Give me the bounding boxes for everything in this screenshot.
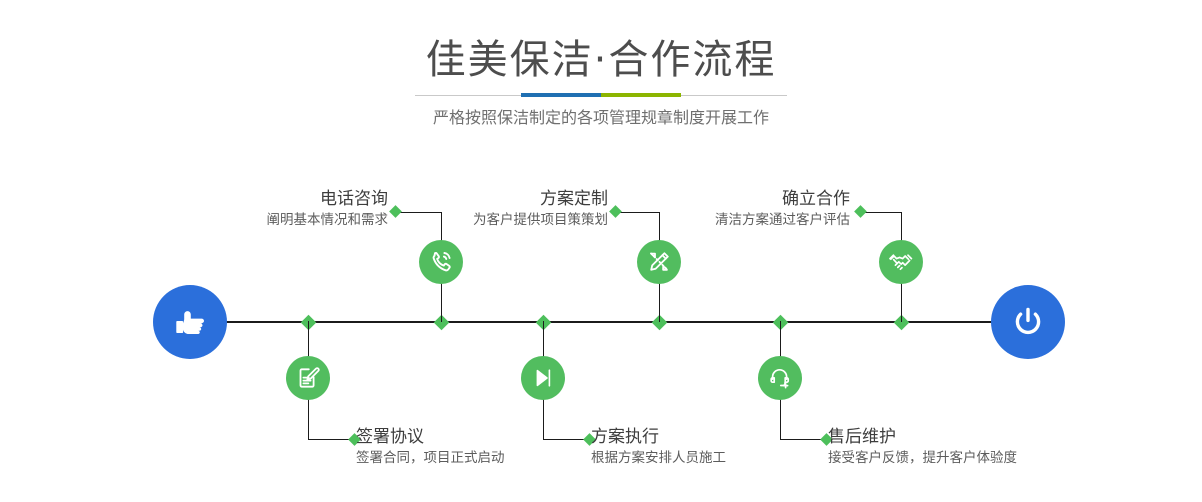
step-desc-6: 接受客户反馈，提升客户体验度 [828, 448, 1148, 468]
step-title-6: 售后维护 [828, 426, 1148, 448]
step-icon-2[interactable] [286, 356, 330, 400]
page-title: 佳美保洁·合作流程 [0, 36, 1202, 84]
connector-arm-5 [861, 212, 902, 213]
step-label-5: 确立合作 清洁方案通过客户评估 [612, 188, 850, 230]
handshake-icon [888, 249, 914, 275]
flow-diagram-canvas: 佳美保洁·合作流程 严格按照保洁制定的各项管理规章制度开展工作 [0, 0, 1202, 502]
step-label-3: 方案定制 为客户提供项目策策划 [370, 188, 608, 230]
label-marker-5 [854, 205, 867, 218]
step-title-3: 方案定制 [370, 188, 608, 210]
step-icon-5[interactable] [879, 240, 923, 284]
timeline-start-node[interactable] [153, 285, 227, 359]
step-icon-6[interactable] [758, 356, 802, 400]
title-divider-blue-segment [521, 93, 601, 97]
step-title-5: 确立合作 [612, 188, 850, 210]
pointing-hand-icon [170, 302, 210, 342]
title-divider-green-segment [601, 93, 681, 97]
play-execute-icon [530, 365, 556, 391]
pencil-ruler-icon [646, 249, 672, 275]
step-icon-4[interactable] [521, 356, 565, 400]
step-icon-1[interactable] [419, 240, 463, 284]
step-label-6: 售后维护 接受客户反馈，提升客户体验度 [828, 426, 1148, 468]
step-title-1: 电话咨询 [150, 188, 388, 210]
phone-call-icon [428, 249, 454, 275]
step-label-1: 电话咨询 阐明基本情况和需求 [150, 188, 388, 230]
step-desc-1: 阐明基本情况和需求 [150, 210, 388, 230]
page-subtitle: 严格按照保洁制定的各项管理规章制度开展工作 [0, 106, 1202, 130]
timeline-end-node[interactable] [991, 285, 1065, 359]
power-icon [1008, 302, 1048, 342]
step-desc-3: 为客户提供项目策策划 [370, 210, 608, 230]
step-desc-5: 清洁方案通过客户评估 [612, 210, 850, 230]
step-icon-3[interactable] [637, 240, 681, 284]
document-pen-icon [295, 365, 321, 391]
headset-plus-icon [767, 365, 793, 391]
